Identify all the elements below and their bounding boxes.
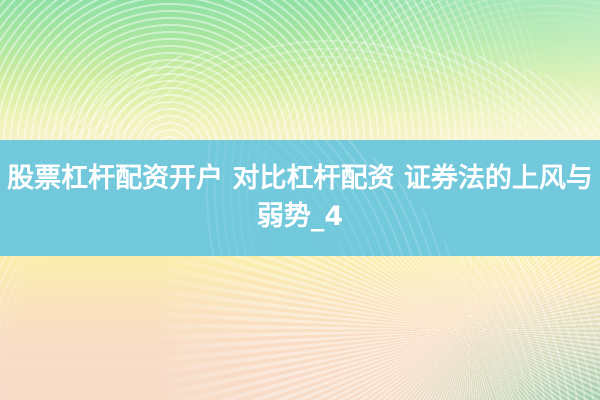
banner-title-band: 股票杠杆配资开户 对比杠杆配资 证券法的上风与弱势_4 — [0, 140, 600, 256]
banner-top-gradient — [0, 0, 600, 140]
banner-card: 股票杠杆配资开户 对比杠杆配资 证券法的上风与弱势_4 — [0, 0, 600, 400]
radial-fan-icon — [160, 256, 600, 400]
banner-bottom-gradient — [0, 256, 600, 400]
page-title: 股票杠杆配资开户 对比杠杆配资 证券法的上风与弱势_4 — [0, 160, 600, 237]
